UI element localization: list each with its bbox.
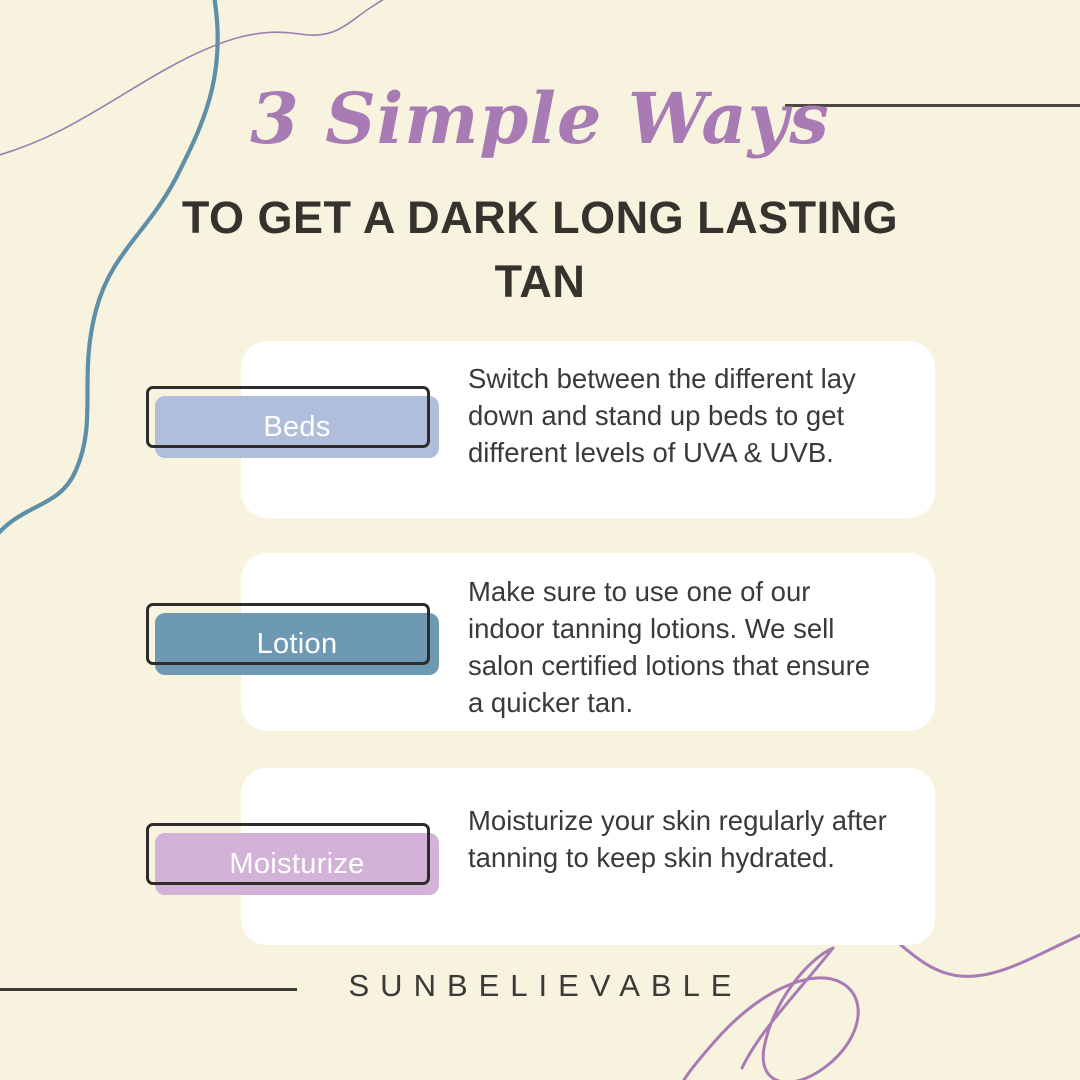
brand-name: SUNBELIEVABLE: [0, 968, 1080, 1004]
tip-body-1: Switch between the different lay down an…: [468, 360, 888, 471]
poster-canvas: 3 Simple Ways TO GET A DARK LONG LASTING…: [0, 0, 1080, 1080]
tip-badge-label-1: Beds: [155, 396, 439, 458]
script-title: 3 Simple Ways: [0, 84, 1080, 154]
tip-body-2: Make sure to use one of our indoor tanni…: [468, 573, 888, 721]
tip-badge-2[interactable]: Lotion: [146, 603, 430, 665]
tip-badge-label-3: Moisturize: [155, 833, 439, 895]
tip-badge-label-2: Lotion: [155, 613, 439, 675]
tip-badge-1[interactable]: Beds: [146, 386, 430, 448]
tip-body-3: Moisturize your skin regularly after tan…: [468, 802, 888, 876]
tip-badge-3[interactable]: Moisturize: [146, 823, 430, 885]
page-title: TO GET A DARK LONG LASTING TAN: [140, 186, 940, 314]
